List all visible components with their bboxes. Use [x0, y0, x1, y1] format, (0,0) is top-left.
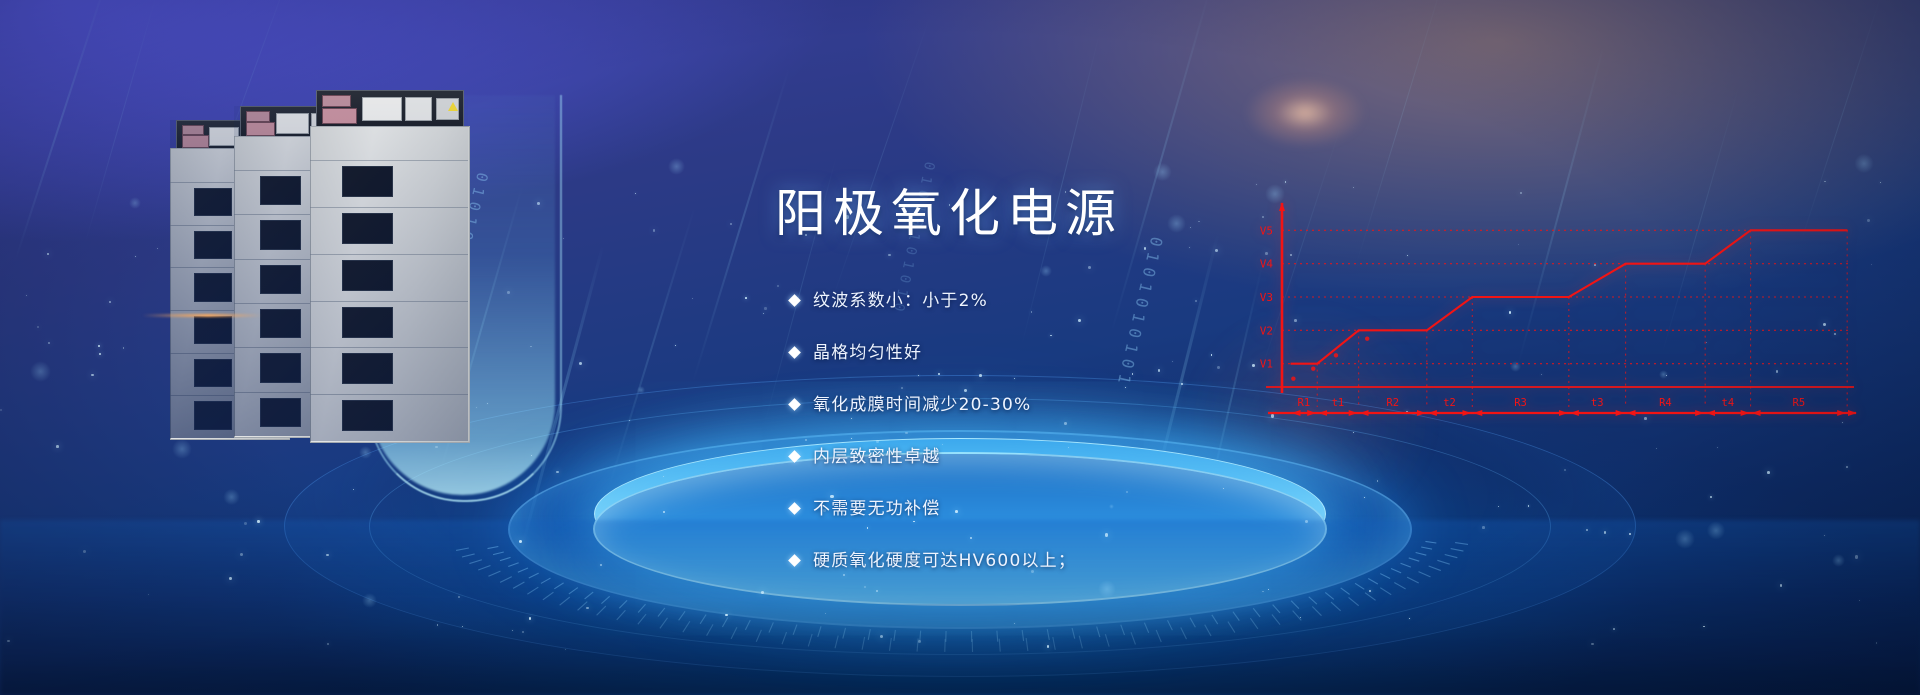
particle — [825, 613, 826, 614]
chart-marker-dot — [1365, 336, 1369, 340]
particle — [1215, 249, 1218, 252]
feature-list-item-label: 氧化成膜时间减少20-30% — [813, 390, 1031, 415]
laser-accent-icon — [142, 314, 262, 317]
chart-segment-label: R1 — [1298, 397, 1311, 409]
voltage-ramp-chart: V1V2V3V4V5R1t1R2t2R3t3R4t4R5 — [1240, 185, 1860, 455]
particle — [98, 345, 100, 347]
particle-bokeh — [1854, 154, 1873, 173]
particle-bokeh — [1832, 554, 1845, 567]
diamond-bullet-icon — [788, 294, 801, 307]
particle — [1364, 497, 1365, 498]
particle — [157, 248, 158, 249]
particle — [579, 362, 582, 365]
chart-segment-dimension: R2 — [1361, 397, 1425, 413]
feature-list-item-label: 晶格均匀性好 — [813, 338, 922, 363]
feature-list-item: 氧化成膜时间减少20-30% — [790, 390, 1270, 415]
diamond-bullet-icon — [788, 398, 801, 411]
particle — [257, 520, 259, 522]
particle — [864, 586, 866, 588]
machine-group — [170, 86, 490, 486]
particle — [761, 591, 764, 594]
particle — [1564, 469, 1566, 471]
feature-list-item: 纹波系数小：小于2% — [790, 286, 1270, 311]
particle — [730, 223, 732, 225]
diamond-bullet-icon — [788, 346, 801, 359]
particle — [1305, 520, 1308, 523]
particle — [1190, 227, 1191, 228]
chart-segment-label: t3 — [1591, 397, 1604, 409]
particle — [843, 574, 845, 576]
particle — [1482, 526, 1485, 529]
particle — [1262, 591, 1263, 592]
light-streak — [84, 0, 157, 245]
banner-stage: 010101010101 01010101010 0101010101 阳极氧化… — [0, 0, 1920, 695]
chart-marker-dot — [1311, 366, 1315, 370]
feature-list-item-label: 内层致密性卓越 — [813, 442, 940, 467]
chart-y-tick-label: V1 — [1260, 358, 1273, 371]
particle — [507, 291, 510, 294]
particle — [1377, 480, 1378, 481]
diamond-bullet-icon — [788, 450, 801, 463]
diamond-bullet-icon — [788, 502, 801, 515]
chart-segment-dimension: t4 — [1707, 397, 1748, 413]
particle — [7, 640, 9, 642]
particle — [600, 564, 602, 566]
feature-list-item: 不需要无功补偿 — [790, 494, 1270, 519]
light-streak — [14, 0, 109, 263]
page-title: 阳极氧化电源 — [775, 172, 1123, 246]
chart-segment-label: t4 — [1722, 397, 1735, 409]
particle — [537, 202, 540, 205]
feature-list: 纹波系数小：小于2%晶格均匀性好氧化成膜时间减少20-30%内层致密性卓越不需要… — [790, 286, 1270, 571]
chart-segment-dimension: R5 — [1753, 397, 1846, 413]
particle-bokeh — [1675, 529, 1695, 549]
particle-bokeh — [1707, 521, 1726, 540]
chart-segment-label: R2 — [1386, 397, 1399, 409]
chart-segment-dimension: R4 — [1628, 397, 1704, 413]
particle — [437, 624, 439, 626]
chart-y-tick-label: V4 — [1260, 258, 1274, 271]
chart-marker-dot — [1334, 353, 1338, 357]
particle — [1767, 471, 1770, 474]
chart-segment-label: R4 — [1659, 397, 1672, 409]
particle-bokeh — [362, 593, 377, 608]
chart-y-tick-label: V3 — [1260, 291, 1273, 304]
particle — [1846, 466, 1848, 468]
feature-list-item-label: 纹波系数小：小于2% — [813, 286, 988, 311]
feature-list-item: 硬质氧化硬度可达HV600以上； — [790, 546, 1270, 571]
particle-bokeh — [1153, 163, 1171, 181]
cabinet-shading — [310, 90, 468, 441]
chart-segment-dimension: t2 — [1429, 397, 1470, 413]
chart-segment-label: R3 — [1514, 397, 1527, 409]
feature-list-item: 内层致密性卓越 — [790, 442, 1270, 467]
particle — [586, 607, 588, 609]
chart-segment-dimension: R1 — [1293, 397, 1316, 413]
particle — [458, 596, 460, 598]
particle — [1498, 506, 1499, 507]
particle — [880, 635, 883, 638]
particle-bokeh — [1040, 265, 1052, 277]
particle — [888, 254, 890, 256]
particle — [1300, 617, 1301, 618]
particle — [1285, 181, 1286, 182]
particle — [1604, 531, 1607, 534]
particle — [1088, 266, 1091, 269]
warning-triangle-icon — [448, 102, 458, 111]
chart-marker-dot — [1291, 376, 1295, 380]
particle — [48, 342, 50, 344]
particle — [764, 307, 766, 309]
chart-y-tick-label: V5 — [1260, 224, 1273, 237]
particle — [745, 297, 747, 299]
chart-segment-label: t2 — [1443, 397, 1456, 409]
particle — [1369, 590, 1371, 592]
particle — [1855, 555, 1858, 558]
particle — [512, 630, 513, 631]
chart-segment-label: t1 — [1332, 397, 1345, 409]
particle-bokeh — [30, 361, 51, 382]
feature-list-item: 晶格均匀性好 — [790, 338, 1270, 363]
particle — [56, 445, 59, 448]
particle — [635, 193, 636, 194]
particle — [109, 301, 111, 303]
particle — [1867, 219, 1870, 222]
chart-segment-dimension: t3 — [1571, 397, 1624, 413]
chart-segment-dimension: R3 — [1474, 397, 1567, 413]
particle — [1047, 645, 1049, 647]
particle — [1710, 496, 1712, 498]
particle-bokeh — [1167, 214, 1186, 233]
particle-bokeh — [223, 489, 239, 505]
feature-list-item-label: 不需要无功补偿 — [813, 494, 940, 519]
particle — [1409, 618, 1410, 619]
chart-segment-dimension: t1 — [1319, 397, 1356, 413]
particle-bokeh — [129, 197, 141, 209]
diamond-bullet-icon — [788, 554, 801, 567]
chart-segment-label: R5 — [1793, 397, 1806, 409]
chart-y-tick-label: V2 — [1260, 324, 1273, 337]
feature-list-item-label: 硬质氧化硬度可达HV600以上； — [813, 546, 1076, 571]
